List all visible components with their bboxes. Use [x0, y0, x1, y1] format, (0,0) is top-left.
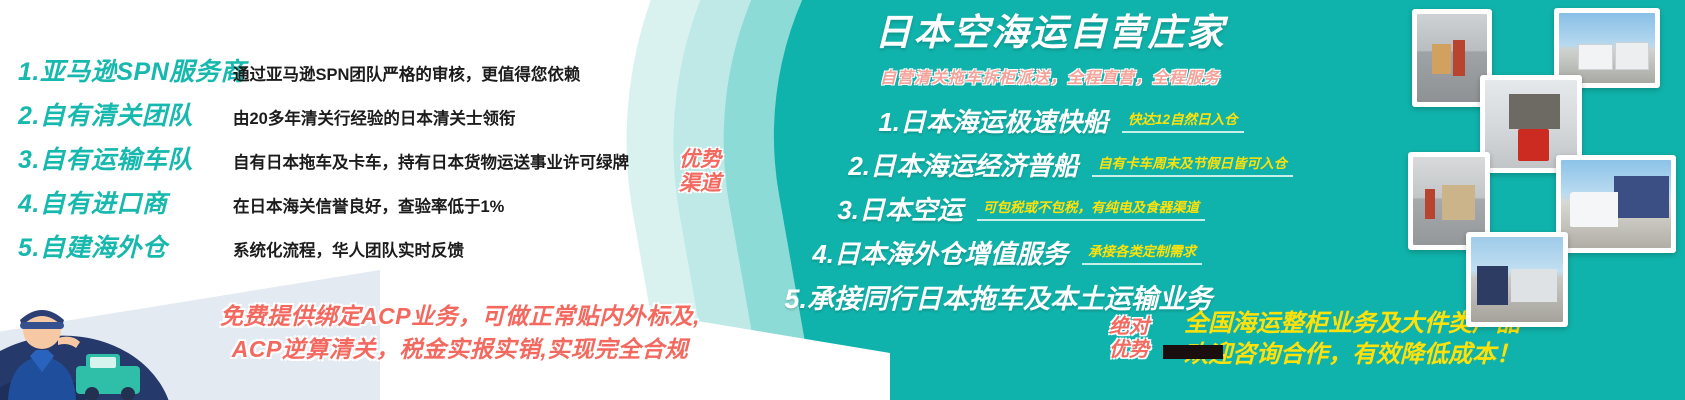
photo-container-truck-image	[1561, 160, 1671, 248]
center-content: 日本空海运自营庄家 自营清关拖车拆柜派送，全程直营，全程服务 1.日本海运极速快…	[700, 2, 1340, 318]
list-item: 3.日本空运 可包税或不包税，有纯电及食器渠道	[700, 186, 1340, 230]
photo-container-truck	[1556, 155, 1676, 253]
promo-fcl-block: 绝对 优势 全国海运整柜业务及大件类产品 欢迎咨询合作，有效降低成本！	[1100, 308, 1520, 370]
service-tag: 可包税或不包税，有纯电及食器渠道	[977, 196, 1205, 221]
badge-line-1: 优势	[668, 148, 732, 172]
service-tag: 自有卡车周末及节假日皆可入仓	[1092, 152, 1293, 177]
list-item: 3.自有运输车队 自有日本拖车及卡车，持有日本货物运送事业许可绿牌	[18, 140, 698, 184]
advantage-desc: 在日本海关信誉良好，查验率低于1%	[233, 193, 504, 217]
advantage-title: 2.自有清关团队	[18, 96, 233, 132]
advantage-desc: 自有日本拖车及卡车，持有日本货物运送事业许可绿牌	[233, 149, 629, 173]
promo-acp-line-2: ACP逆算清关，税金实报实销,实现完全合规	[180, 333, 740, 366]
redaction-bar	[1163, 345, 1223, 359]
promo-fcl-line-2: 欢迎咨询合作，有效降低成本！	[1184, 339, 1520, 370]
promo-acp-text: 免费提供绑定ACP业务，可做正常贴内外标及, ACP逆算清关，税金实报实销,实现…	[180, 300, 740, 365]
service-tag: 快达12自然日入仓	[1122, 108, 1244, 133]
advantage-desc: 由20多年清关行经验的日本清关士领衔	[233, 105, 515, 129]
absolute-advantage-badge: 绝对 优势	[1100, 316, 1158, 362]
photo-truck-fleet	[1466, 232, 1568, 327]
list-item: 2.自有清关团队 由20多年清关行经验的日本清关士领衔	[18, 96, 698, 140]
service-name: 3.日本空运	[738, 190, 963, 227]
service-name: 1.日本海运极速快船	[808, 102, 1108, 139]
list-item: 4.日本海外仓增值服务 承接各类定制需求	[700, 230, 1340, 274]
badge-line-1: 绝对	[1100, 316, 1158, 339]
photo-trucks-lot-image	[1559, 13, 1655, 83]
service-name: 4.日本海外仓增值服务	[718, 234, 1068, 271]
worker-illustration	[0, 282, 150, 400]
advantage-channel-badge: 优势 渠道	[668, 148, 732, 195]
service-tag: 承接各类定制需求	[1082, 240, 1202, 265]
advantage-title: 5.自建海外仓	[18, 228, 233, 264]
badge-line-2: 渠道	[668, 172, 732, 196]
badge-line-2: 优势	[1100, 339, 1158, 362]
page-subtitle: 自营清关拖车拆柜派送，全程直营，全程服务	[760, 64, 1340, 88]
advantage-desc: 通过亚马逊SPN团队严格的审核，更值得您依赖	[233, 61, 580, 85]
list-item: 4.自有进口商 在日本海关信誉良好，查验率低于1%	[18, 184, 698, 228]
list-item: 1.亚马逊SPN服务商 通过亚马逊SPN团队严格的审核，更值得您依赖	[18, 52, 698, 96]
advantage-title: 3.自有运输车队	[18, 140, 233, 176]
advantage-title: 4.自有进口商	[18, 184, 233, 220]
photo-warehouse-1-image	[1417, 14, 1487, 102]
list-item: 1.日本海运极速快船 快达12自然日入仓	[700, 98, 1340, 142]
page-title: 日本空海运自营庄家	[760, 2, 1340, 56]
advantage-desc: 系统化流程，华人团队实时反馈	[233, 237, 464, 261]
list-item: 5.自建海外仓 系统化流程，华人团队实时反馈	[18, 228, 698, 272]
advantages-list: 1.亚马逊SPN服务商 通过亚马逊SPN团队严格的审核，更值得您依赖 2.自有清…	[18, 52, 698, 272]
photo-truck-fleet-image	[1471, 237, 1563, 322]
promotional-banner: 1.亚马逊SPN服务商 通过亚马逊SPN团队严格的审核，更值得您依赖 2.自有清…	[0, 0, 1685, 400]
services-list: 1.日本海运极速快船 快达12自然日入仓 2.日本海运经济普船 自有卡车周末及节…	[700, 98, 1340, 318]
service-name: 2.日本海运经济普船	[778, 146, 1078, 183]
list-item: 2.日本海运经济普船 自有卡车周末及节假日皆可入仓	[700, 142, 1340, 186]
promo-acp-line-1: 免费提供绑定ACP业务，可做正常贴内外标及,	[220, 303, 700, 329]
advantage-title: 1.亚马逊SPN服务商	[18, 52, 233, 88]
